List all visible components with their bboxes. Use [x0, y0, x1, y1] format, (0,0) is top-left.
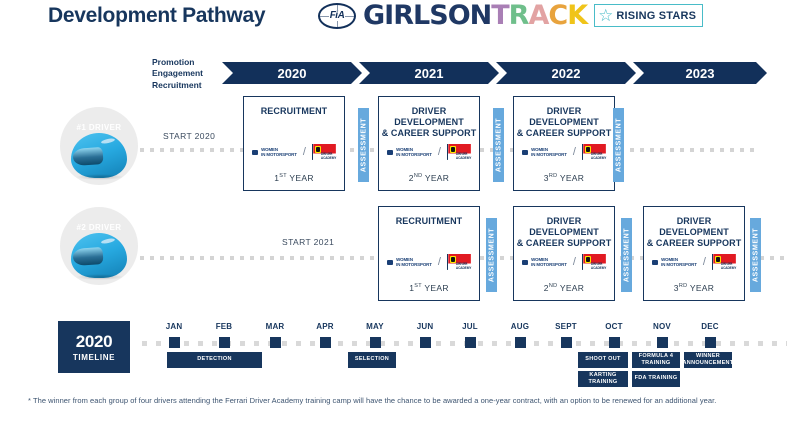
- logo-separator: /: [573, 147, 576, 158]
- ferrari-driver-academy-logo: DRIVER ACADEMY: [712, 254, 736, 270]
- stage-year-suffix: RD: [549, 173, 558, 179]
- helmet-icon: [71, 233, 127, 278]
- brand-letter-2: R: [393, 2, 413, 29]
- wim-badge-icon: [652, 260, 658, 265]
- timeline-month-MAR: MAR: [257, 322, 293, 331]
- star-icon: ☆: [598, 7, 613, 24]
- stage-year-suffix: RD: [679, 283, 688, 289]
- stage-title-line: & CAREER SUPPORT: [514, 128, 614, 139]
- stage-title-line: DEVELOPMENT: [644, 227, 744, 238]
- timeline-month-AUG: AUG: [502, 322, 538, 331]
- women-in-motorsport-logo: WOMENIN MOTORSPORT: [522, 147, 567, 157]
- rising-stars-label: RISING STARS: [616, 10, 696, 22]
- fda-text: DRIVER ACADEMY: [591, 152, 606, 160]
- stage-year: 1ST YEAR: [379, 283, 479, 293]
- stage-title-line: DEVELOPMENT: [379, 117, 479, 128]
- timeline-event[interactable]: SHOOT OUT: [578, 352, 628, 368]
- partner-logos: WOMENIN MOTORSPORT/DRIVER ACADEMY: [514, 254, 614, 270]
- phase-label-line: Engagement: [152, 68, 222, 79]
- partner-logos: WOMENIN MOTORSPORT/DRIVER ACADEMY: [379, 254, 479, 270]
- stage-title-line: DRIVER: [379, 106, 479, 117]
- timeline-tick: [705, 337, 716, 348]
- timeline-event[interactable]: DETECTION: [167, 352, 262, 368]
- women-in-motorsport-logo: WOMENIN MOTORSPORT: [252, 147, 297, 157]
- partner-logos: WOMENIN MOTORSPORT/DRIVER ACADEMY: [514, 144, 614, 160]
- timeline-tick: [420, 337, 431, 348]
- timeline-event[interactable]: WINNER ANNOUNCEMENT: [684, 352, 732, 368]
- timeline-month-JAN: JAN: [156, 322, 192, 331]
- assessment-bar: ASSESSMENT: [358, 108, 369, 182]
- stage-title: DRIVERDEVELOPMENT& CAREER SUPPORT: [644, 216, 744, 249]
- timeline-tick: [270, 337, 281, 348]
- stage-title: DRIVERDEVELOPMENT& CAREER SUPPORT: [514, 216, 614, 249]
- timeline-event[interactable]: FORMULA 4 TRAINING: [632, 352, 680, 368]
- stage-title-line: & CAREER SUPPORT: [379, 128, 479, 139]
- assessment-label: ASSESSMENT: [752, 228, 759, 282]
- partner-logos: WOMENIN MOTORSPORT/DRIVER ACADEMY: [379, 144, 479, 160]
- rising-stars-badge: ☆ RISING STARS: [594, 4, 703, 27]
- fia-logo-text: FiA: [329, 10, 346, 21]
- stage-title: RECRUITMENT: [244, 106, 344, 117]
- assessment-bar: ASSESSMENT: [621, 218, 632, 292]
- stage-year: 3RD YEAR: [644, 283, 744, 293]
- brand-letter-7: T: [491, 2, 508, 29]
- start-label: START 2021: [282, 237, 334, 247]
- timeline-tick: [561, 337, 572, 348]
- helmet-icon: [71, 133, 127, 178]
- brand-letter-6: N: [470, 2, 492, 29]
- logo-separator: /: [438, 257, 441, 268]
- phase-label-line: Promotion: [152, 57, 222, 68]
- women-in-motorsport-logo: WOMENIN MOTORSPORT: [387, 257, 432, 267]
- girls-on-track-wordmark: GIRLSONTRACK: [363, 2, 587, 29]
- assessment-bar: ASSESSMENT: [486, 218, 497, 292]
- helmet-shadow: [76, 174, 124, 180]
- ferrari-driver-academy-logo: DRIVER ACADEMY: [582, 144, 606, 160]
- timeline-month-OCT: OCT: [596, 322, 632, 331]
- year-segment-2020: 2020: [222, 62, 362, 84]
- stage-year: 1ST YEAR: [244, 173, 344, 183]
- stage-title-line: DEVELOPMENT: [514, 117, 614, 128]
- stage-box[interactable]: DRIVERDEVELOPMENT& CAREER SUPPORTWOMENIN…: [643, 206, 745, 301]
- timeline-tick: [515, 337, 526, 348]
- assessment-label: ASSESSMENT: [495, 118, 502, 172]
- timeline-month-FEB: FEB: [206, 322, 242, 331]
- wim-logo-wrap: WOMENIN MOTORSPORT: [387, 257, 432, 267]
- assessment-label: ASSESSMENT: [615, 118, 622, 172]
- timeline-label: TIMELINE: [73, 353, 115, 362]
- timeline-tick: [609, 337, 620, 348]
- wim-badge-icon: [522, 150, 528, 155]
- stage-year: 3RD YEAR: [514, 173, 614, 183]
- stage-title-line: DRIVER: [514, 106, 614, 117]
- ferrari-driver-academy-logo: DRIVER ACADEMY: [582, 254, 606, 270]
- logo-separator: /: [703, 257, 706, 268]
- women-in-motorsport-logo: WOMENIN MOTORSPORT: [387, 147, 432, 157]
- assessment-bar: ASSESSMENT: [750, 218, 761, 292]
- brand-letter-3: L: [413, 2, 429, 29]
- timeline-year: 2020: [76, 332, 113, 352]
- year-segment-2023: 2023: [633, 62, 767, 84]
- start-label: START 2020: [163, 131, 215, 141]
- page-title: Development Pathway: [48, 4, 265, 28]
- wim-badge-icon: [387, 260, 393, 265]
- stage-title-line: DRIVER: [514, 216, 614, 227]
- logo-separator: /: [303, 147, 306, 158]
- stage-year-suffix: ST: [414, 283, 422, 289]
- fda-text: DRIVER ACADEMY: [721, 262, 736, 270]
- wim-text: WOMENIN MOTORSPORT: [531, 147, 567, 157]
- brand-letter-0: G: [363, 2, 384, 29]
- fda-text: DRIVER ACADEMY: [321, 152, 336, 160]
- footnote: * The winner from each group of four dri…: [28, 396, 780, 405]
- ferrari-driver-academy-logo: DRIVER ACADEMY: [312, 144, 336, 160]
- brand-letter-11: K: [567, 2, 587, 29]
- partner-logos: WOMENIN MOTORSPORT/DRIVER ACADEMY: [644, 254, 744, 270]
- wim-logo-wrap: WOMENIN MOTORSPORT: [652, 257, 697, 267]
- timeline-month-MAY: MAY: [357, 322, 393, 331]
- assessment-label: ASSESSMENT: [488, 228, 495, 282]
- timeline-tick: [320, 337, 331, 348]
- timeline-month-DEC: DEC: [692, 322, 728, 331]
- brand-letter-1: I: [384, 2, 393, 29]
- brand-letter-5: O: [448, 2, 470, 29]
- women-in-motorsport-logo: WOMENIN MOTORSPORT: [522, 257, 567, 267]
- phase-label: PromotionEngagementRecruitment: [152, 57, 222, 91]
- fda-text: DRIVER ACADEMY: [456, 262, 471, 270]
- brand-letter-4: S: [429, 2, 447, 29]
- phase-label-line: Recruitment: [152, 80, 222, 91]
- timeline-tick: [370, 337, 381, 348]
- timeline-event[interactable]: FDA TRAINING: [632, 371, 680, 387]
- driver-avatar-1: #1 DRIVER: [60, 107, 138, 185]
- year-arrow-bar: 2020202120222023: [222, 62, 767, 84]
- stage-box[interactable]: RECRUITMENTWOMENIN MOTORSPORT/DRIVER ACA…: [378, 206, 480, 301]
- stage-box[interactable]: RECRUITMENTWOMENIN MOTORSPORT/DRIVER ACA…: [243, 96, 345, 191]
- stage-year-suffix: ST: [279, 173, 287, 179]
- header: Development Pathway FiA GIRLSONTRACK ☆ R…: [0, 0, 800, 40]
- helmet-visor: [72, 147, 103, 166]
- timeline-month-NOV: NOV: [644, 322, 680, 331]
- brand-logo-group: FiA GIRLSONTRACK ☆ RISING STARS: [318, 2, 703, 29]
- assessment-label: ASSESSMENT: [623, 228, 630, 282]
- wim-logo-wrap: WOMENIN MOTORSPORT: [522, 147, 567, 157]
- wim-text: WOMENIN MOTORSPORT: [261, 147, 297, 157]
- stage-title-line: DRIVER: [644, 216, 744, 227]
- timeline-tick: [657, 337, 668, 348]
- brand-letter-9: A: [528, 2, 548, 29]
- assessment-label: ASSESSMENT: [360, 118, 367, 172]
- stage-title: DRIVERDEVELOPMENT& CAREER SUPPORT: [514, 106, 614, 139]
- timeline-event[interactable]: SELECTION: [348, 352, 396, 368]
- stage-title: RECRUITMENT: [379, 216, 479, 227]
- timeline-tick: [169, 337, 180, 348]
- assessment-bar: ASSESSMENT: [613, 108, 624, 182]
- ferrari-driver-academy-logo: DRIVER ACADEMY: [447, 254, 471, 270]
- wim-text: WOMENIN MOTORSPORT: [396, 257, 432, 267]
- stage-year-suffix: ND: [549, 283, 558, 289]
- timeline-tick: [219, 337, 230, 348]
- timeline-month-SEPT: SEPT: [548, 322, 584, 331]
- fia-logo-icon: FiA: [318, 3, 356, 29]
- fda-text: DRIVER ACADEMY: [591, 262, 606, 270]
- timeline-month-JUL: JUL: [452, 322, 488, 331]
- year-segment-2021: 2021: [359, 62, 499, 84]
- wim-badge-icon: [252, 150, 258, 155]
- stage-title-line: RECRUITMENT: [379, 216, 479, 227]
- stage-title-line: DEVELOPMENT: [514, 227, 614, 238]
- timeline-month-APR: APR: [307, 322, 343, 331]
- partner-logos: WOMENIN MOTORSPORT/DRIVER ACADEMY: [244, 144, 344, 160]
- stage-title: DRIVERDEVELOPMENT& CAREER SUPPORT: [379, 106, 479, 139]
- timeline-event[interactable]: KARTING TRAINING: [578, 371, 628, 387]
- helmet-visor: [72, 247, 103, 266]
- brand-letter-10: C: [548, 2, 567, 29]
- assessment-bar: ASSESSMENT: [493, 108, 504, 182]
- stage-year: 2ND YEAR: [379, 173, 479, 183]
- brand-letter-8: R: [509, 2, 529, 29]
- stage-box[interactable]: DRIVERDEVELOPMENT& CAREER SUPPORTWOMENIN…: [513, 96, 615, 191]
- stage-title-line: & CAREER SUPPORT: [644, 238, 744, 249]
- development-pathway-infographic: Development Pathway FiA GIRLSONTRACK ☆ R…: [0, 0, 800, 427]
- ferrari-driver-academy-logo: DRIVER ACADEMY: [447, 144, 471, 160]
- stage-year: 2ND YEAR: [514, 283, 614, 293]
- timeline-month-JUN: JUN: [407, 322, 443, 331]
- women-in-motorsport-logo: WOMENIN MOTORSPORT: [652, 257, 697, 267]
- wim-logo-wrap: WOMENIN MOTORSPORT: [252, 147, 297, 157]
- wim-badge-icon: [387, 150, 393, 155]
- driver-tag: #2 DRIVER: [60, 223, 138, 232]
- stage-title-line: & CAREER SUPPORT: [514, 238, 614, 249]
- stage-box[interactable]: DRIVERDEVELOPMENT& CAREER SUPPORTWOMENIN…: [378, 96, 480, 191]
- year-segment-2022: 2022: [496, 62, 636, 84]
- wim-badge-icon: [522, 260, 528, 265]
- helmet-shadow: [76, 274, 124, 280]
- logo-separator: /: [438, 147, 441, 158]
- timeline-badge: 2020 TIMELINE: [58, 321, 130, 373]
- logo-separator: /: [573, 257, 576, 268]
- timeline-tick: [465, 337, 476, 348]
- wim-text: WOMENIN MOTORSPORT: [661, 257, 697, 267]
- driver-avatar-2: #2 DRIVER: [60, 207, 138, 285]
- stage-year-suffix: ND: [414, 173, 423, 179]
- wim-logo-wrap: WOMENIN MOTORSPORT: [387, 147, 432, 157]
- wim-logo-wrap: WOMENIN MOTORSPORT: [522, 257, 567, 267]
- fda-text: DRIVER ACADEMY: [456, 152, 471, 160]
- wim-text: WOMENIN MOTORSPORT: [531, 257, 567, 267]
- wim-text: WOMENIN MOTORSPORT: [396, 147, 432, 157]
- stage-title-line: RECRUITMENT: [244, 106, 344, 117]
- stage-box[interactable]: DRIVERDEVELOPMENT& CAREER SUPPORTWOMENIN…: [513, 206, 615, 301]
- driver-tag: #1 DRIVER: [60, 123, 138, 132]
